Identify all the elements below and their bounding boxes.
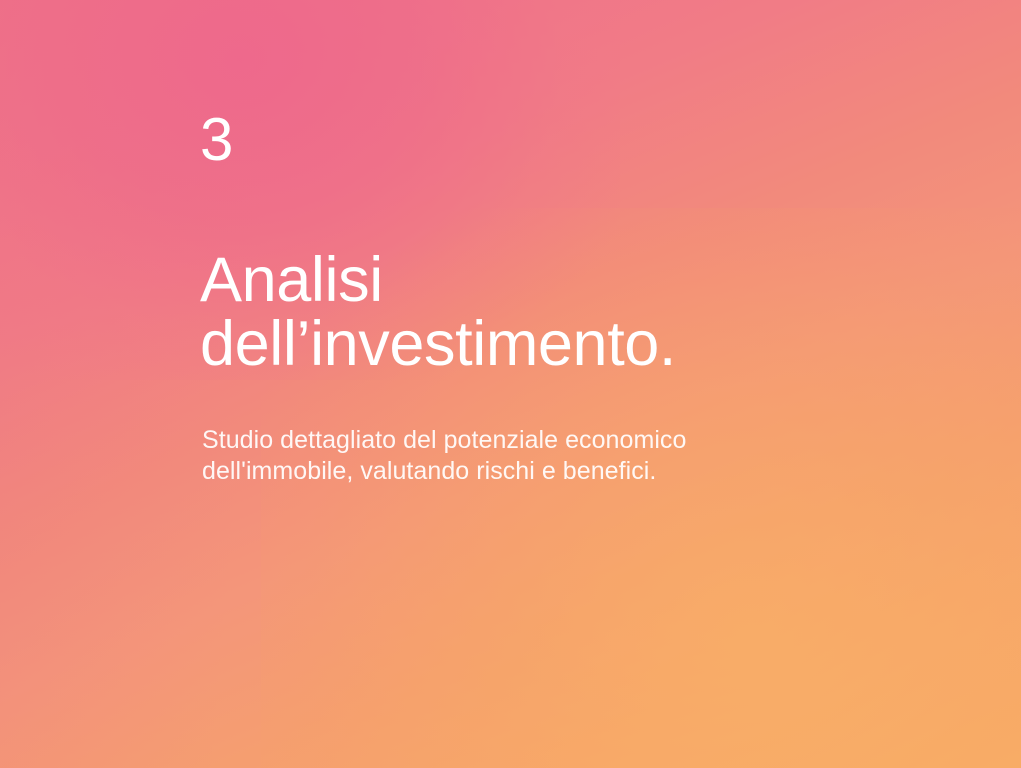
presentation-slide: 3 Analisi dell’investimento. Studio dett…	[0, 0, 1021, 768]
section-number: 3	[200, 110, 234, 170]
slide-content: 3 Analisi dell’investimento. Studio dett…	[200, 0, 960, 768]
slide-title: Analisi dell’investimento.	[200, 248, 940, 376]
slide-subtitle: Studio dettagliato del potenziale econom…	[202, 425, 822, 487]
